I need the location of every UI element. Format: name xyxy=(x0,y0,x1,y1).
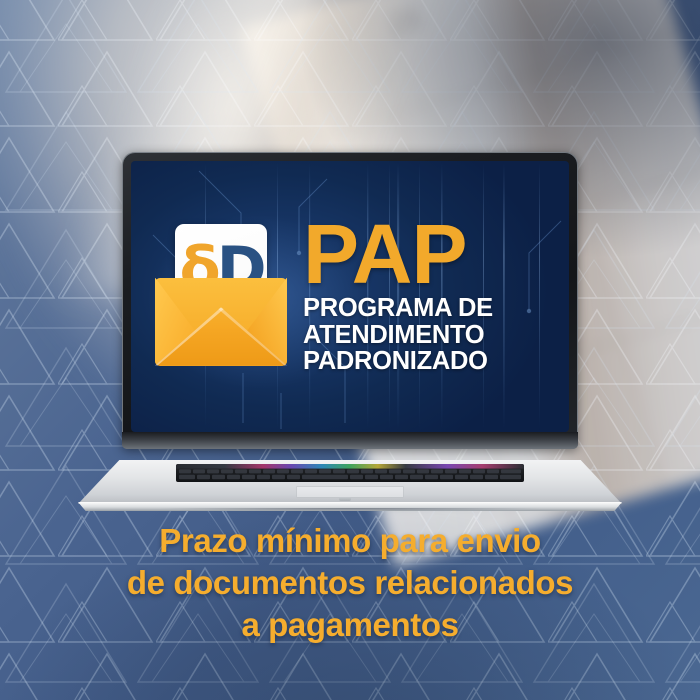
subtitle-line: ATENDIMENTO xyxy=(303,322,493,349)
subtitle-line: PADRONIZADO xyxy=(303,348,493,375)
envelope-icon xyxy=(155,278,287,366)
headline-line: a pagamentos xyxy=(24,604,676,646)
pap-subtitle: PROGRAMA DE ATENDIMENTO PADRONIZADO xyxy=(303,295,493,375)
pap-logo: δD xyxy=(155,222,287,372)
laptop-trackpad xyxy=(296,486,405,498)
poster-canvas: 23 22 28 xyxy=(0,0,700,700)
screen-content: δD PAP PR xyxy=(131,161,569,432)
laptop-deck-shadow xyxy=(94,508,605,514)
laptop-keyboard xyxy=(176,464,524,482)
pap-title: PAP xyxy=(303,220,493,289)
laptop-lid: δD PAP PR xyxy=(122,152,578,449)
headline: Prazo mínimo para envio de documentos re… xyxy=(0,520,700,646)
laptop: δD PAP PR xyxy=(78,152,622,522)
screen-text-block: PAP PROGRAMA DE ATENDIMENTO PADRONIZADO xyxy=(303,220,493,374)
headline-line: Prazo mínimo para envio xyxy=(24,520,676,562)
headline-line: de documentos relacionados xyxy=(24,562,676,604)
laptop-screen: δD PAP PR xyxy=(131,161,569,432)
laptop-chin xyxy=(122,432,578,449)
laptop-deck-notch xyxy=(339,497,351,501)
laptop-base xyxy=(78,456,622,514)
subtitle-line: PROGRAMA DE xyxy=(303,295,493,322)
keyboard-keys xyxy=(176,464,524,482)
